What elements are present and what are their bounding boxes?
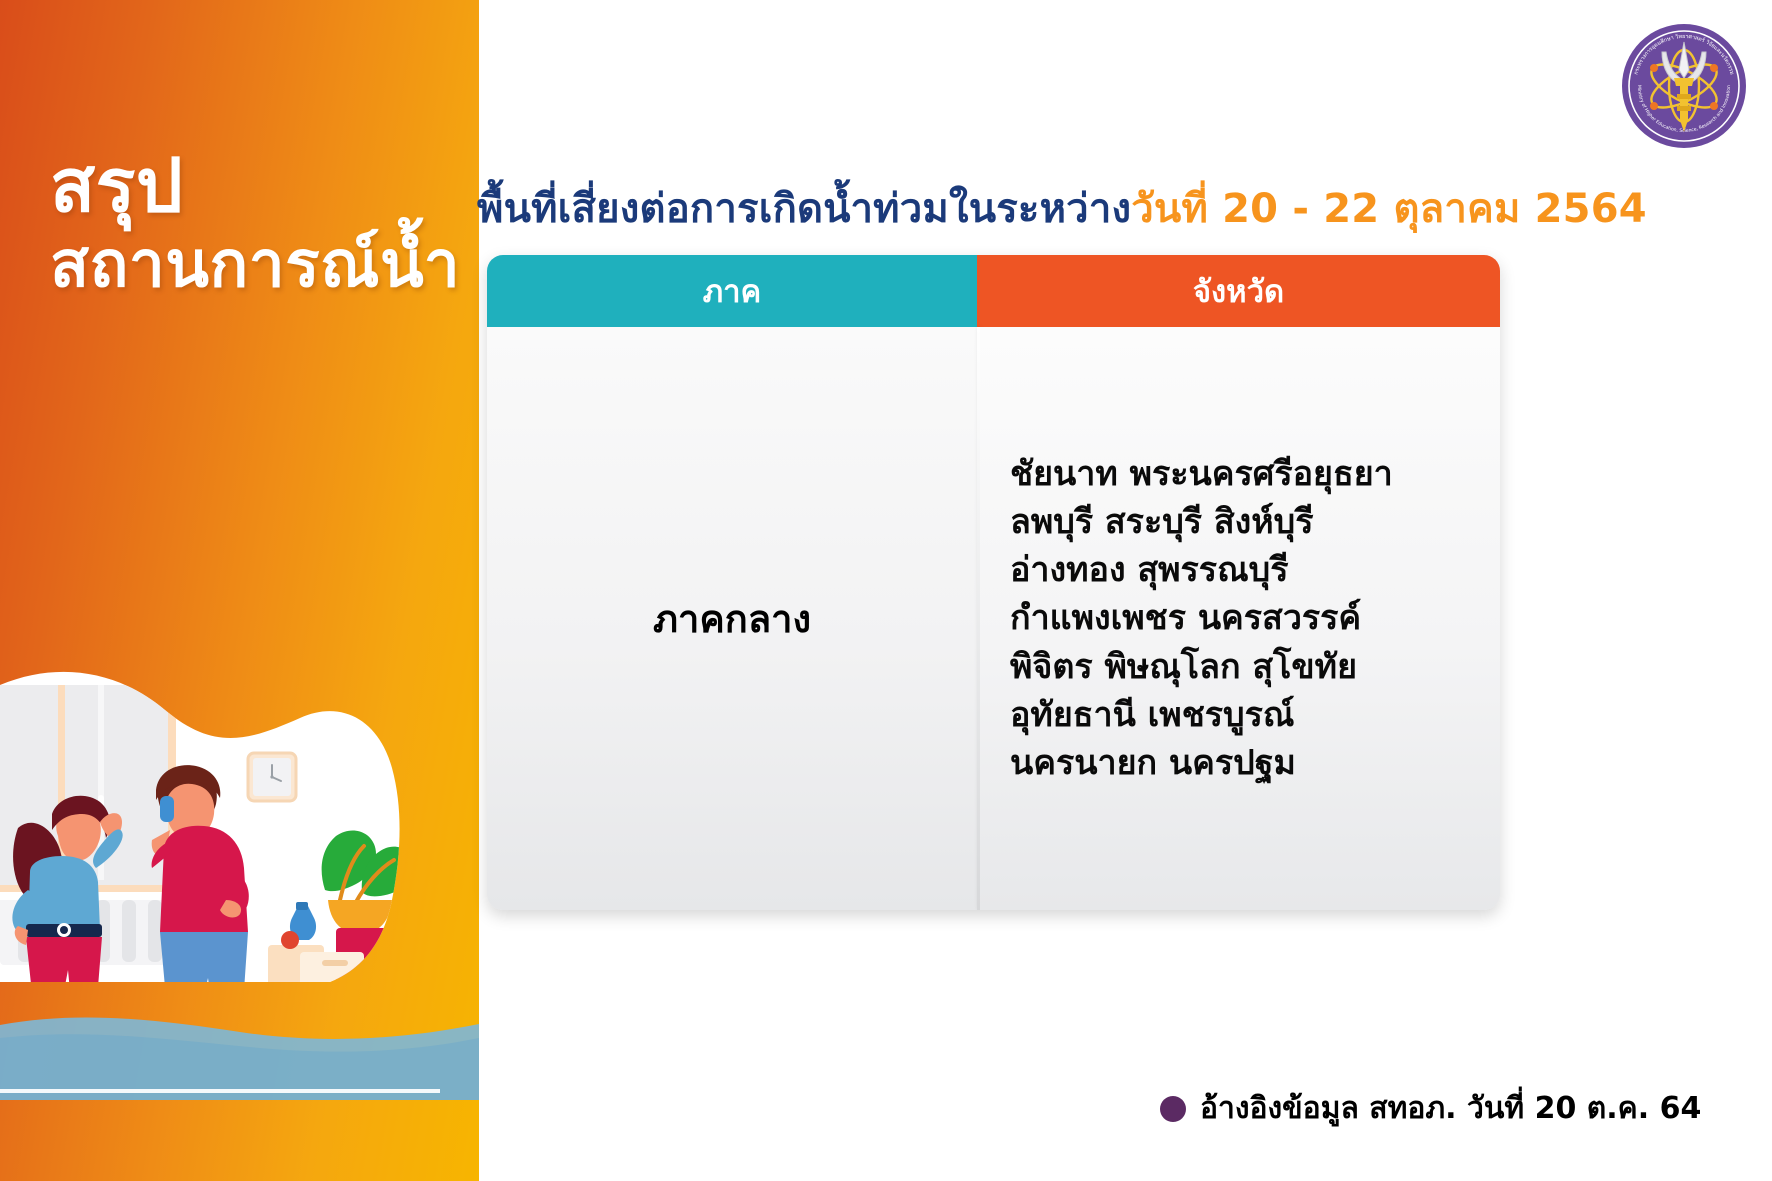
risk-area-table: ภาค จังหวัด ภาคกลาง ชัยนาท พระนครศรีอยุธ… [487, 255, 1500, 910]
province-line: ลพบุรี สระบุรี สิงห์บุรี [1010, 498, 1393, 546]
table-row: ภาคกลาง ชัยนาท พระนครศรีอยุธยา ลพบุรี สร… [487, 327, 1500, 910]
bullet-dot-icon [1160, 1096, 1186, 1122]
province-line: กำแพงเพชร นครสวรรค์ [1010, 594, 1393, 642]
headline-prefix: พื้นที่เสี่ยงต่อการเกิดน้ำท่วมในระหว่าง [477, 186, 1131, 232]
table-cell-province: ชัยนาท พระนครศรีอยุธยา ลพบุรี สระบุรี สิ… [980, 327, 1500, 910]
province-line: นครนายก นครปฐม [1010, 739, 1393, 787]
province-list: ชัยนาท พระนครศรีอยุธยา ลพบุรี สระบุรี สิ… [1010, 450, 1393, 788]
table-cell-region: ภาคกลาง [487, 327, 977, 910]
infographic-poster: สรุป สถานการณ์น้ำ [0, 0, 1772, 1181]
page-title: สรุป สถานการณ์น้ำ [50, 148, 470, 299]
province-line: ชัยนาท พระนครศรีอยุธยา [1010, 450, 1393, 498]
left-panel: สรุป สถานการณ์น้ำ [0, 0, 479, 1181]
table-header-row: ภาค จังหวัด [487, 255, 1500, 327]
page-title-line1: สรุป [50, 148, 470, 226]
province-line: พิจิตร พิษณุโลก สุโขทัย [1010, 643, 1393, 691]
wall-clock-icon [248, 753, 296, 801]
table-header-region: ภาค [487, 255, 977, 327]
province-line: อุทัยธานี เพชรบูรณ์ [1010, 691, 1393, 739]
table-header-province: จังหวัด [977, 255, 1500, 327]
potted-plant [322, 830, 414, 934]
source-footer-text: อ้างอิงข้อมูล สทอภ. วันที่ 20 ต.ค. 64 [1200, 1085, 1701, 1132]
province-line: อ่างทอง สุพรรณบุรี [1010, 546, 1393, 594]
mhesi-logo: กระทรวงการอุดมศึกษา วิทยาศาสตร์ วิจัยและ… [1610, 12, 1758, 160]
source-footer: อ้างอิงข้อมูล สทอภ. วันที่ 20 ต.ค. 64 [1160, 1085, 1701, 1132]
headline: พื้นที่เสี่ยงต่อการเกิดน้ำท่วมในระหว่างว… [477, 176, 1537, 240]
flooded-home-illustration [0, 600, 479, 1100]
panel-divider-rule [0, 1089, 440, 1093]
page-title-line2: สถานการณ์น้ำ [50, 232, 470, 299]
headline-date-range: วันที่ 20 - 22 ตุลาคม 2564 [1131, 186, 1647, 232]
